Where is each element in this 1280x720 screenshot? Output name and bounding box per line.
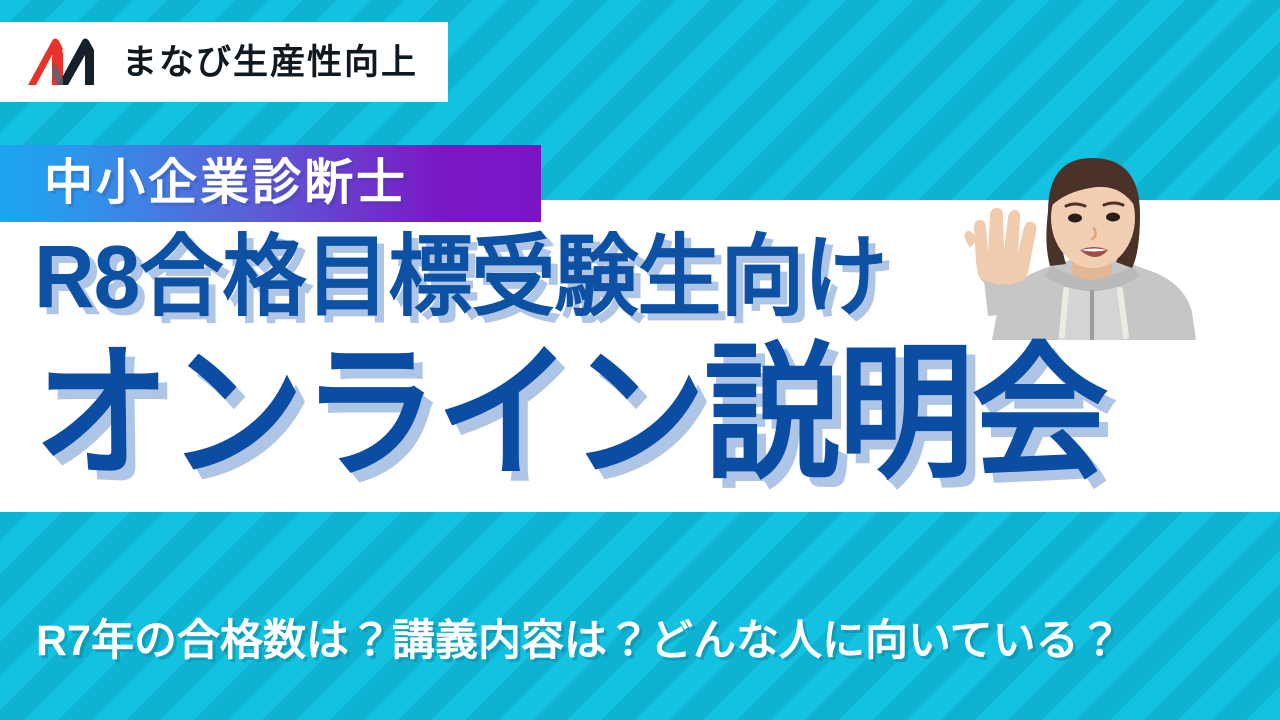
manabi-logo-mark-icon — [22, 35, 104, 89]
category-badge: 中小企業診断士 — [0, 145, 541, 222]
headline-line-1: R8合格目標受験生向け — [34, 232, 886, 321]
brand-name: まなび生産性向上 — [122, 45, 418, 80]
category-badge-label: 中小企業診断士 — [44, 159, 408, 208]
thumbnail-canvas: まなび生産性向上 中小企業診断士 R8合格目標受験生向け オンライン説明会 R7… — [0, 0, 1280, 720]
headline-line-2: オンライン説明会 — [34, 340, 1106, 487]
bottom-caption: R7年の合格数は？講義内容は？どんな人に向いている？ — [36, 620, 1246, 663]
brand-logo-plate: まなび生産性向上 — [0, 22, 448, 102]
presenter-photo — [940, 140, 1240, 340]
